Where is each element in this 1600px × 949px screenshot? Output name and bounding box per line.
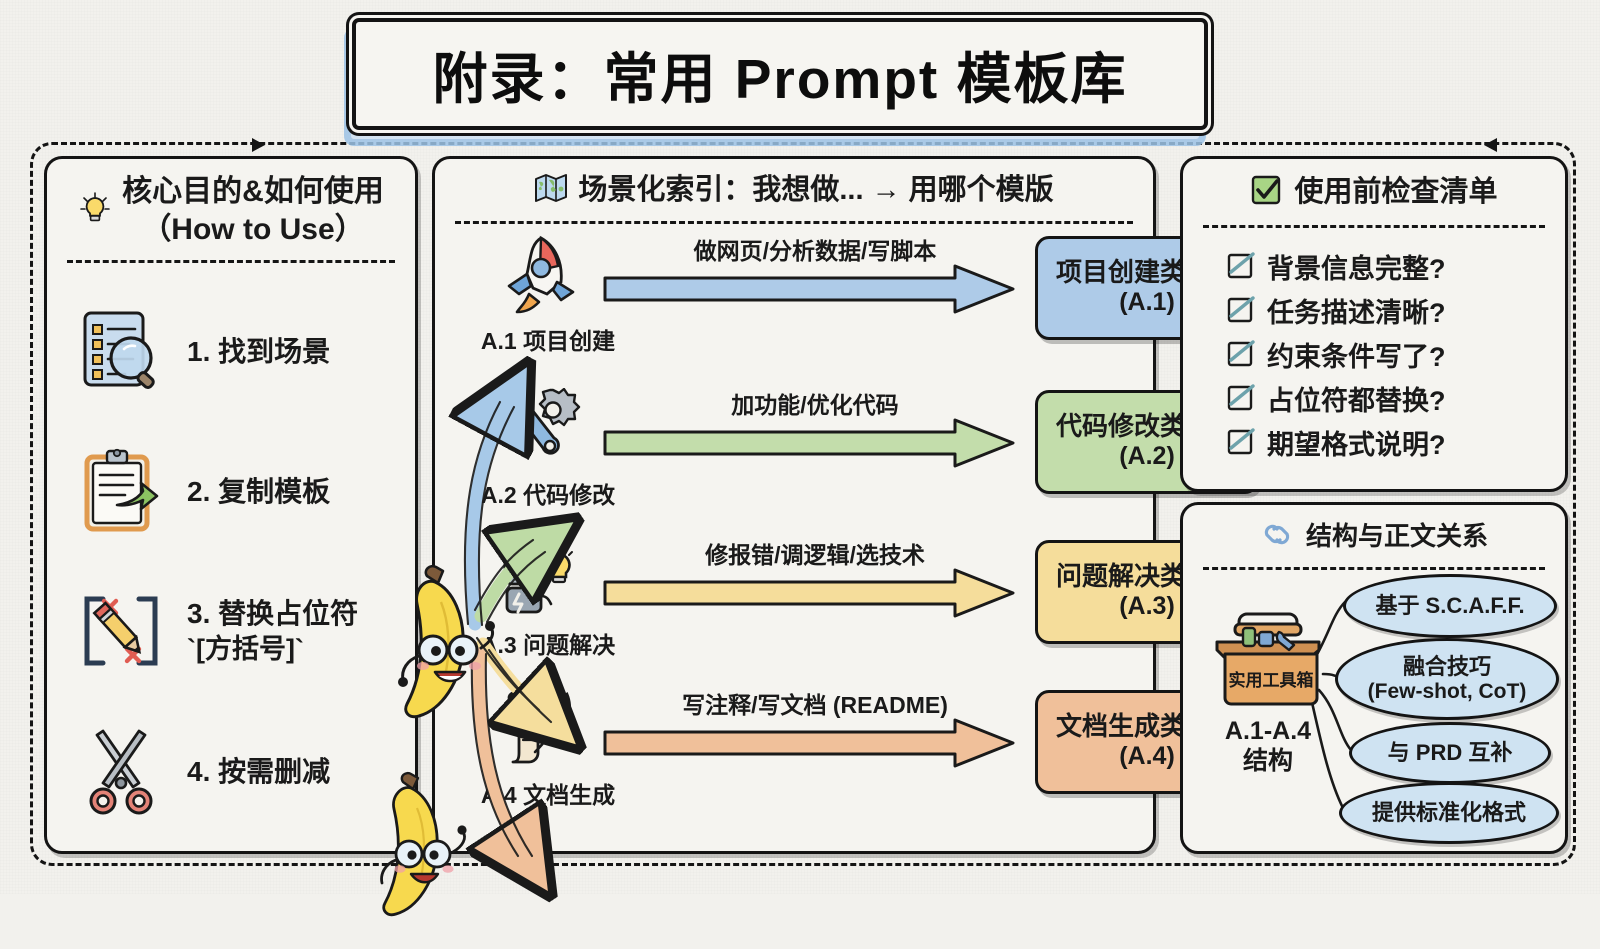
checklist-header: 使用前检查清单 (1183, 159, 1565, 213)
checklist-item-label: 背景信息完整? (1267, 247, 1446, 286)
scissors-icon (73, 723, 169, 819)
flow-row-problem-solving: A.3 问题解决 修报错/调逻辑/选技术 问题解决类模板 (A.3) (435, 532, 1153, 682)
flow-arrow (603, 718, 1015, 768)
bracket-pencil-icon (73, 583, 169, 679)
panel-how-to-use: 核心目的&如何使用 （How to Use） (44, 156, 418, 854)
arrow-label: 修报错/调逻辑/选技术 (595, 536, 1035, 570)
checklist-item[interactable]: 期望格式说明? (1227, 420, 1565, 464)
template-code: (A.1) (1119, 287, 1175, 318)
checklist-title: 使用前检查清单 (1294, 175, 1497, 210)
how-to-use-title-line2: （How to Use） (141, 213, 364, 246)
document-search-icon (73, 303, 169, 399)
how-to-use-header: 核心目的&如何使用 （How to Use） (47, 159, 415, 248)
arrow-label: 写注释/写文档 (README) (595, 686, 1035, 720)
title-box: 附录：常用 Prompt 模板库 (352, 18, 1208, 130)
flow-row-document-generation: A.4 文档生成 写注释/写文档 (README) 文档生成类模板 (A.4) (435, 682, 1153, 832)
banana-mascot-icon (369, 764, 479, 944)
structure-node-prd[interactable]: 与 PRD 互补 (1349, 722, 1551, 784)
step-label: 1. 找到场景 (187, 334, 330, 369)
checklist-item-label: 占位符都替换? (1267, 379, 1446, 418)
banana-mascot-icon (389, 554, 509, 744)
source-caption: A.4 文档生成 (463, 776, 633, 810)
how-to-use-title: 核心目的&如何使用 （How to Use） (122, 173, 384, 248)
dash-arrow-left-icon (252, 138, 265, 152)
step-find-scenario[interactable]: 1. 找到场景 (47, 281, 415, 421)
template-code: (A.2) (1119, 441, 1175, 472)
checklist-items: 背景信息完整? 任务描述清晰? 约束条件写了? (1183, 228, 1565, 464)
structure-node-techniques[interactable]: 融合技巧 (Few-shot, CoT) (1335, 638, 1559, 720)
step-sub-text: `[方括号]` (187, 634, 304, 664)
step-copy-template[interactable]: 2. 复制模板 (47, 421, 415, 561)
flow-row-code-modification: A.2 代码修改 加功能/优化代码 代码修改类模板 (A.2) (435, 382, 1153, 532)
step-replace-placeholder[interactable]: 3. 替换占位符 `[方括号]` (47, 561, 415, 701)
page-title-banner: 附录：常用 Prompt 模板库 (352, 18, 1200, 122)
flow-arrow (603, 264, 1015, 314)
structure-node-label-line2: (Few-shot, CoT) (1368, 680, 1527, 704)
source-caption: A.1 项目创建 (463, 322, 633, 356)
step-label: 3. 替换占位符 `[方括号]` (187, 596, 358, 667)
toolbox-icon: 实用工具箱 (1205, 598, 1335, 710)
scenario-flow-rows: A.1 项目创建 做网页/分析数据/写脚本 项目创建类模板 (A.1) (435, 224, 1153, 842)
green-check-box-icon (1250, 173, 1284, 213)
how-to-use-title-line1: 核心目的&如何使用 (122, 175, 384, 208)
flow-row-project-creation: A.1 项目创建 做网页/分析数据/写脚本 项目创建类模板 (A.1) (435, 228, 1153, 378)
structure-node-label: 基于 S.C.A.F.F. (1375, 594, 1524, 619)
flow-arrow (603, 568, 1015, 618)
panel-pre-use-checklist: 使用前检查清单 背景信息完整? 任务描述清晰? (1180, 156, 1568, 492)
checklist-item[interactable]: 占位符都替换? (1227, 376, 1565, 420)
step-label-text: 3. 替换占位符 (187, 598, 358, 629)
arrow-label: 加功能/优化代码 (595, 386, 1035, 420)
panel-scenario-index: 场景化索引：我想做... → 用哪个模版 (432, 156, 1156, 854)
checklist-item-label: 任务描述清晰? (1267, 291, 1446, 330)
structure-title: 结构与正文关系 (1306, 521, 1488, 553)
structure-caption-line1: A.1-A.4 (1225, 717, 1311, 745)
checkbox-icon[interactable] (1227, 384, 1255, 412)
structure-node-label: 提供标准化格式 (1372, 801, 1526, 826)
checkbox-icon[interactable] (1227, 252, 1255, 280)
toolbox-label: 实用工具箱 (1229, 670, 1314, 690)
checkbox-icon[interactable] (1227, 428, 1255, 456)
step-trim-as-needed[interactable]: 4. 按需删减 (47, 701, 415, 841)
step-label-text: 4. 按需删减 (187, 756, 330, 787)
panel-structure-relation: 结构与正文关系 实用工具箱 (1180, 502, 1568, 854)
clipboard-copy-icon (73, 443, 169, 539)
structure-caption: A.1-A.4 结构 (1193, 716, 1343, 776)
step-label: 2. 复制模板 (187, 474, 330, 509)
structure-header: 结构与正文关系 (1183, 505, 1565, 555)
template-code: (A.4) (1119, 741, 1175, 772)
map-icon (534, 173, 568, 209)
source-caption: A.2 代码修改 (463, 476, 633, 510)
step-label: 4. 按需删减 (187, 754, 330, 789)
structure-node-label: 融合技巧 (Few-shot, CoT) (1368, 655, 1527, 703)
checkbox-icon[interactable] (1227, 340, 1255, 368)
template-code: (A.3) (1119, 591, 1175, 622)
structure-node-label: 与 PRD 互补 (1388, 741, 1513, 766)
step-label-text: 2. 复制模板 (187, 476, 330, 507)
step-label-text: 1. 找到场景 (187, 336, 330, 367)
checkbox-icon[interactable] (1227, 296, 1255, 324)
checklist-item-label: 期望格式说明? (1267, 423, 1446, 462)
link-chain-icon (1260, 519, 1296, 555)
structure-node-scaff[interactable]: 基于 S.C.A.F.F. (1343, 574, 1557, 638)
page-title: 附录：常用 Prompt 模板库 (432, 34, 1127, 114)
structure-caption-line2: 结构 (1243, 747, 1293, 775)
structure-node-label-line1: 融合技巧 (1403, 654, 1491, 679)
dash-arrow-right-icon (1484, 138, 1497, 152)
structure-node-standard-format[interactable]: 提供标准化格式 (1339, 782, 1559, 844)
scenario-index-header: 场景化索引：我想做... → 用哪个模版 (435, 159, 1153, 209)
checklist-item[interactable]: 任务描述清晰? (1227, 288, 1565, 332)
wrench-gear-icon (495, 388, 581, 468)
lightbulb-icon (78, 191, 112, 231)
checklist-item-label: 约束条件写了? (1267, 335, 1446, 374)
steps-list: 1. 找到场景 2. 复制模板 (47, 263, 415, 841)
checklist-item[interactable]: 约束条件写了? (1227, 332, 1565, 376)
scenario-index-title: 场景化索引：我想做... → 用哪个模版 (578, 173, 1053, 208)
flow-arrow (603, 418, 1015, 468)
structure-body: 实用工具箱 A.1-A.4 结构 基于 S.C.A.F.F. 融合技巧 (Few… (1183, 570, 1565, 822)
arrow-label: 做网页/分析数据/写脚本 (595, 232, 1035, 266)
checklist-item[interactable]: 背景信息完整? (1227, 244, 1565, 288)
rocket-icon (495, 234, 581, 314)
